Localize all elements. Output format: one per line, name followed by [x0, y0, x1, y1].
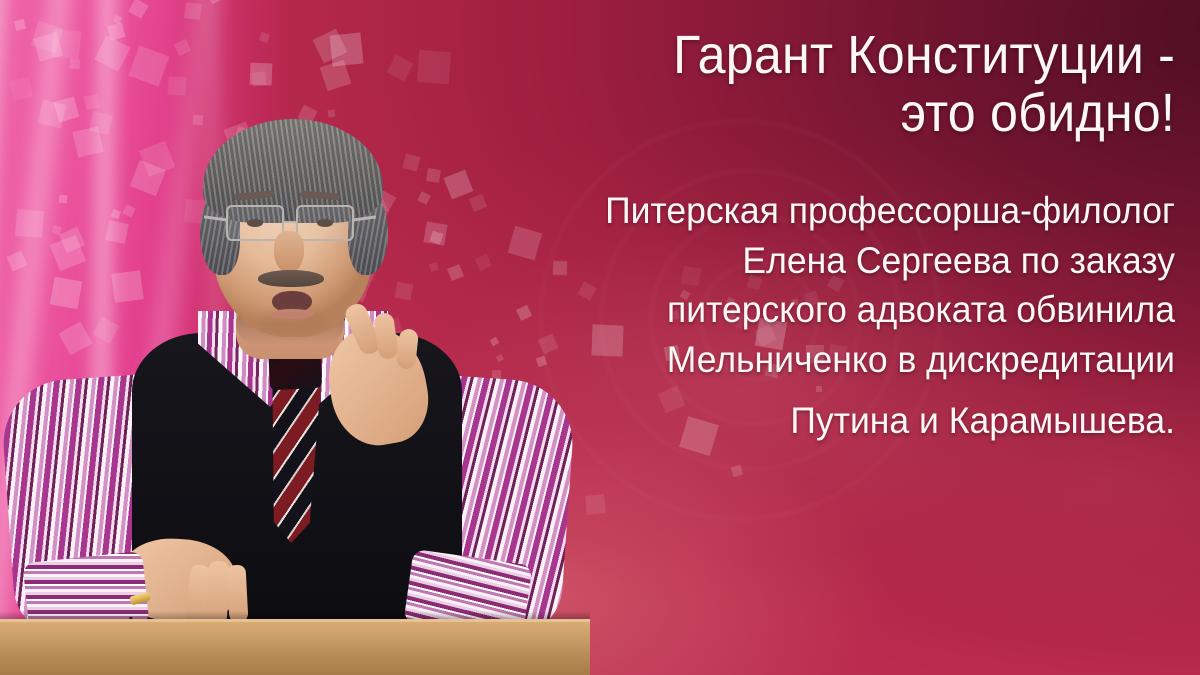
eyeglasses-bridge [284, 221, 298, 224]
mustache [258, 270, 324, 287]
floating-square [184, 2, 202, 20]
desk [0, 619, 590, 675]
nose [274, 231, 304, 273]
headline: Гарант Конституции - это обидно! [482, 26, 1175, 143]
body-text: Питерская профессорша-филолог Елена Серг… [450, 186, 1175, 446]
body-line: Елена Сергеева по заказу [450, 236, 1175, 286]
headline-line: это обидно! [482, 84, 1175, 142]
body-line: Путина и Карамышева. [450, 396, 1175, 446]
headline-line: Гарант Конституции - [482, 26, 1175, 84]
body-line: питерского адвоката обвинила [450, 285, 1175, 335]
eyeglasses-lens-right [296, 205, 354, 241]
eyeglasses-lens-left [226, 205, 284, 241]
banner-image: Гарант Конституции - это обидно! Питерск… [0, 0, 1200, 675]
body-line: Мельниченко в дискредитации [450, 335, 1175, 385]
body-line: Питерская профессорша-филолог [450, 186, 1175, 236]
chin-shadow [258, 309, 328, 335]
